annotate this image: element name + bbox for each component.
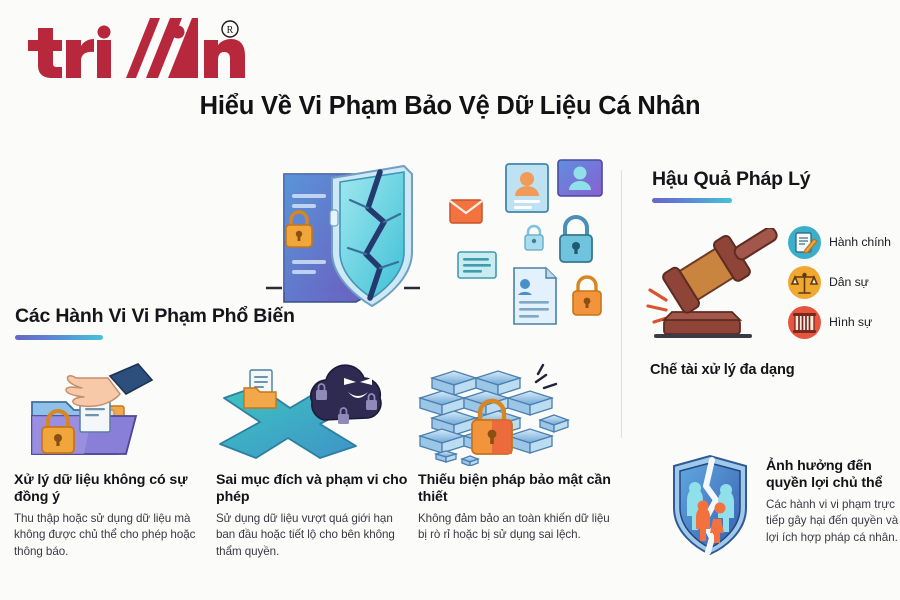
right-heading-underline xyxy=(652,198,732,203)
orange-padlock-small-icon xyxy=(573,277,601,315)
violation-card-title: Xử lý dữ liệu không có sự đồng ý xyxy=(14,472,210,507)
envelope-icon xyxy=(450,200,482,223)
violation-card-title: Sai mục đích và phạm vi cho phép xyxy=(216,472,412,507)
violation-card-desc: Thu thập hoặc sử dụng dữ liệu mà không đ… xyxy=(14,511,210,560)
right-heading-text: Hậu Quả Pháp Lý xyxy=(652,168,810,191)
consequence-item: Hình sự xyxy=(788,302,900,342)
hand-taking-document-from-locked-folder-icon xyxy=(14,358,210,466)
section-divider xyxy=(621,170,622,438)
consequence-item: Dân sự xyxy=(788,262,900,302)
legal-consequence-list: Hành chính Dân sự xyxy=(788,222,900,342)
document-card-icon xyxy=(514,268,556,324)
text-note-icon xyxy=(458,252,496,278)
jail-bars-icon xyxy=(788,306,821,339)
document-pencil-icon xyxy=(788,226,821,259)
hero-illustration xyxy=(262,148,632,330)
consequence-label: Dân sự xyxy=(829,275,869,289)
blue-padlock-icon xyxy=(560,217,592,262)
consequence-label: Hình sự xyxy=(829,315,872,329)
impact-block: Ảnh hưởng đến quyền lợi chủ thể Các hành… xyxy=(662,440,900,565)
scales-of-justice-icon xyxy=(788,266,821,299)
cracked-shield-family-icon xyxy=(662,440,758,565)
consequence-caption: Chế tài xử lý đa dạng xyxy=(650,362,794,378)
violation-card-title: Thiếu biện pháp bảo mật cần thiết xyxy=(418,472,614,507)
page-title: Hiểu Về Vi Phạm Bảo Vệ Dữ Liệu Cá Nhân xyxy=(0,92,900,121)
left-section-heading: Các Hành Vi Vi Phạm Phổ Biến xyxy=(15,305,295,340)
brand-logo: R xyxy=(18,16,248,78)
violation-card: Thiếu biện pháp bảo mật cần thiết Không … xyxy=(418,358,614,586)
consequence-item: Hành chính xyxy=(788,222,900,262)
crossroads-x-with-dark-cloud-icon xyxy=(216,358,412,466)
left-heading-underline xyxy=(15,335,103,340)
right-section-heading: Hậu Quả Pháp Lý xyxy=(652,168,810,203)
violation-card: Sai mục đích và phạm vi cho phép Sử dụng… xyxy=(216,358,412,586)
judge-gavel-icon xyxy=(644,228,794,346)
infographic-canvas: R Hiểu Về Vi Phạm Bảo Vệ Dữ Liệu Cá Nhân xyxy=(0,0,900,600)
profile-card-icon xyxy=(558,160,602,196)
id-card-icon xyxy=(506,164,548,212)
left-heading-text: Các Hành Vi Vi Phạm Phổ Biến xyxy=(15,305,295,328)
impact-text: Ảnh hưởng đến quyền lợi chủ thể Các hành… xyxy=(766,440,900,565)
impact-title: Ảnh hưởng đến quyền lợi chủ thể xyxy=(766,458,900,493)
violation-cards: Xử lý dữ liệu không có sự đồng ý Thu thậ… xyxy=(14,358,614,586)
violation-card-desc: Sử dụng dữ liệu vượt quá giới hạn ban đầ… xyxy=(216,511,412,560)
violation-card: Xử lý dữ liệu không có sự đồng ý Thu thậ… xyxy=(14,358,210,586)
violation-card-desc: Không đảm bảo an toàn khiến dữ liệu bị r… xyxy=(418,511,614,544)
dark-cloud-icon xyxy=(311,365,381,424)
broken-brick-wall-with-padlock-icon xyxy=(418,358,614,466)
impact-desc: Các hành vi vi phạm trực tiếp gây hại đế… xyxy=(766,497,900,546)
svg-text:R: R xyxy=(227,25,234,36)
consequence-label: Hành chính xyxy=(829,235,891,249)
small-padlock-icon xyxy=(525,226,543,250)
